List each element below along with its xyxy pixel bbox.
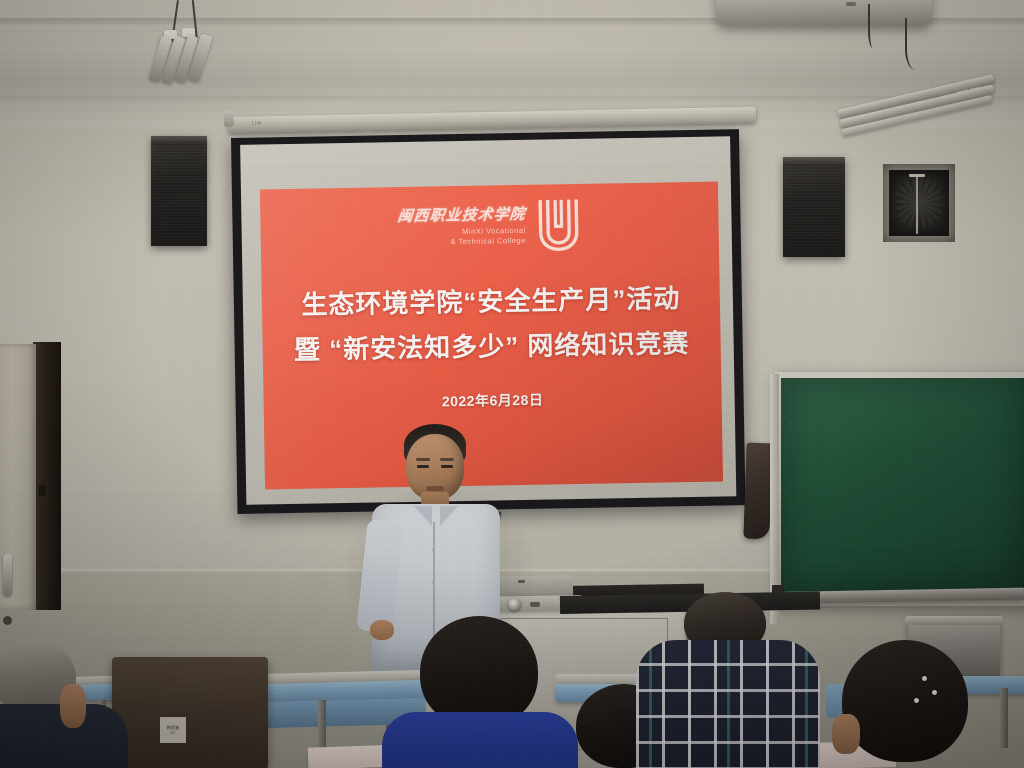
slide-date: 2022年6月28日 xyxy=(263,386,721,414)
box-label-line2: 07 xyxy=(171,730,176,735)
logo-english-name: MinXi Vocational & Technical College xyxy=(450,226,526,248)
speaker-right xyxy=(783,157,845,257)
slide-title-line1: 生态环境学院“安全生产月”活动 xyxy=(262,277,721,322)
audience-right-woman xyxy=(826,640,994,768)
audience-front-left-man xyxy=(0,640,136,768)
slide-title-line2: 暨 “新安法知多少” 网络知识竞赛 xyxy=(262,322,721,367)
ceiling-cable-2 xyxy=(868,4,880,48)
chalkboard xyxy=(781,378,1024,592)
hair-clip-2 xyxy=(932,690,937,695)
door-latch xyxy=(39,485,46,496)
wall-exhaust-fan xyxy=(883,164,955,242)
fluorescent-light-right xyxy=(836,60,1016,150)
body xyxy=(382,712,578,768)
hair-clip-1 xyxy=(922,676,927,681)
logo-u-mark xyxy=(535,198,582,255)
classroom-photo: Lite 闽西职业技术学院 MinXi Vocational & Technic… xyxy=(0,0,1024,768)
door-handle[interactable] xyxy=(3,554,12,596)
hair-clip-3 xyxy=(914,698,919,703)
speaker-left xyxy=(151,136,207,246)
audience-front-center-woman xyxy=(384,616,574,768)
head xyxy=(842,640,968,762)
door-lock[interactable] xyxy=(3,616,12,625)
door[interactable] xyxy=(0,344,36,610)
fluorescent-light-left xyxy=(150,0,260,130)
door-frame xyxy=(33,342,61,610)
box-label: 物资箱 07 xyxy=(160,717,186,743)
college-logo: 闽西职业技术学院 MinXi Vocational & Technical Co… xyxy=(397,198,582,257)
body xyxy=(636,640,820,768)
hanging-cloth xyxy=(743,443,772,540)
logo-english-line2: & Technical College xyxy=(451,236,526,247)
roller-brand-label: Lite xyxy=(252,120,262,126)
ceiling-cable xyxy=(905,18,931,70)
logo-chinese-name: 闽西职业技术学院 xyxy=(397,208,526,225)
ceiling-projector-unit xyxy=(716,0,932,26)
audience-plaid-man xyxy=(640,592,816,768)
